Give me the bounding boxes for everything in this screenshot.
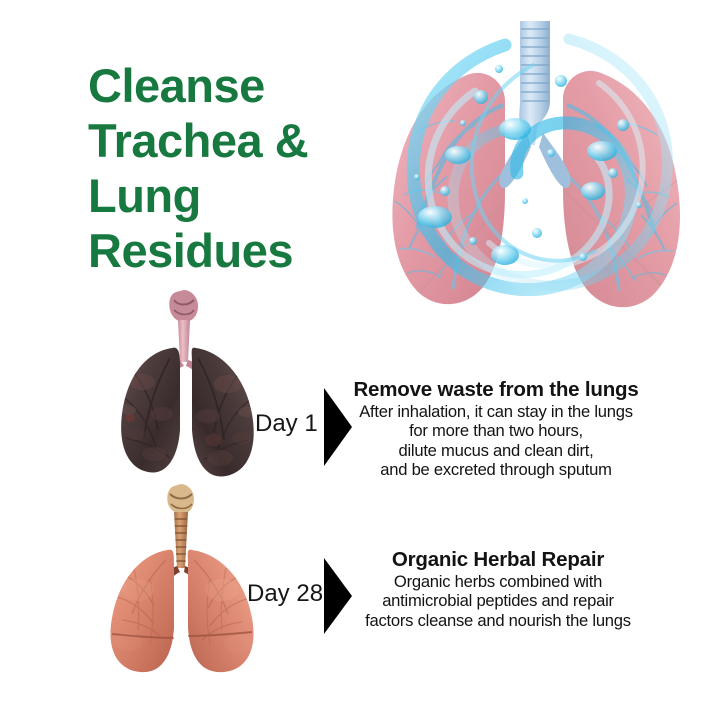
step-2-body-line-1: Organic herbs combined with <box>350 572 646 591</box>
step-2-body-line-3: factors cleanse and nourish the lungs <box>350 611 646 630</box>
diseased-lungs-image <box>100 288 280 488</box>
title-line-4: Residues <box>88 223 358 278</box>
healthy-left-lung <box>110 550 174 673</box>
step-1-body-line-1: After inhalation, it can stay in the lun… <box>346 402 646 421</box>
poster-canvas: Cleanse Trachea & Lung Residues <box>0 0 720 720</box>
step-2-body-line-2: antimicrobial peptides and repair <box>350 591 646 610</box>
cleansed-lungs-illustration <box>355 5 720 325</box>
day-label-step-2: Day 28 <box>247 580 323 608</box>
step-2-heading: Organic Herbal Repair <box>350 548 646 572</box>
step-1-heading: Remove waste from the lungs <box>346 378 646 402</box>
step-2-text-block: Organic Herbal Repair Organic herbs comb… <box>350 548 646 630</box>
step-1-body-line-4: and be excreted through sputum <box>346 460 646 479</box>
healthy-right-lung <box>188 550 254 673</box>
day-label-step-1: Day 1 <box>255 410 318 438</box>
step-1-text-block: Remove waste from the lungs After inhala… <box>346 378 646 480</box>
step-1-body-line-3: dilute mucus and clean dirt, <box>346 441 646 460</box>
page-title: Cleanse Trachea & Lung Residues <box>88 58 358 278</box>
step-1-body-line-2: for more than two hours, <box>346 421 646 440</box>
dark-left-lung <box>120 348 180 473</box>
step-1-body: After inhalation, it can stay in the lun… <box>346 402 646 480</box>
title-line-1: Cleanse <box>88 58 358 113</box>
title-line-2: Trachea & <box>88 113 358 168</box>
title-line-3: Lung <box>88 168 358 223</box>
step-2-body: Organic herbs combined with antimicrobia… <box>350 572 646 630</box>
dark-right-lung <box>192 348 254 477</box>
